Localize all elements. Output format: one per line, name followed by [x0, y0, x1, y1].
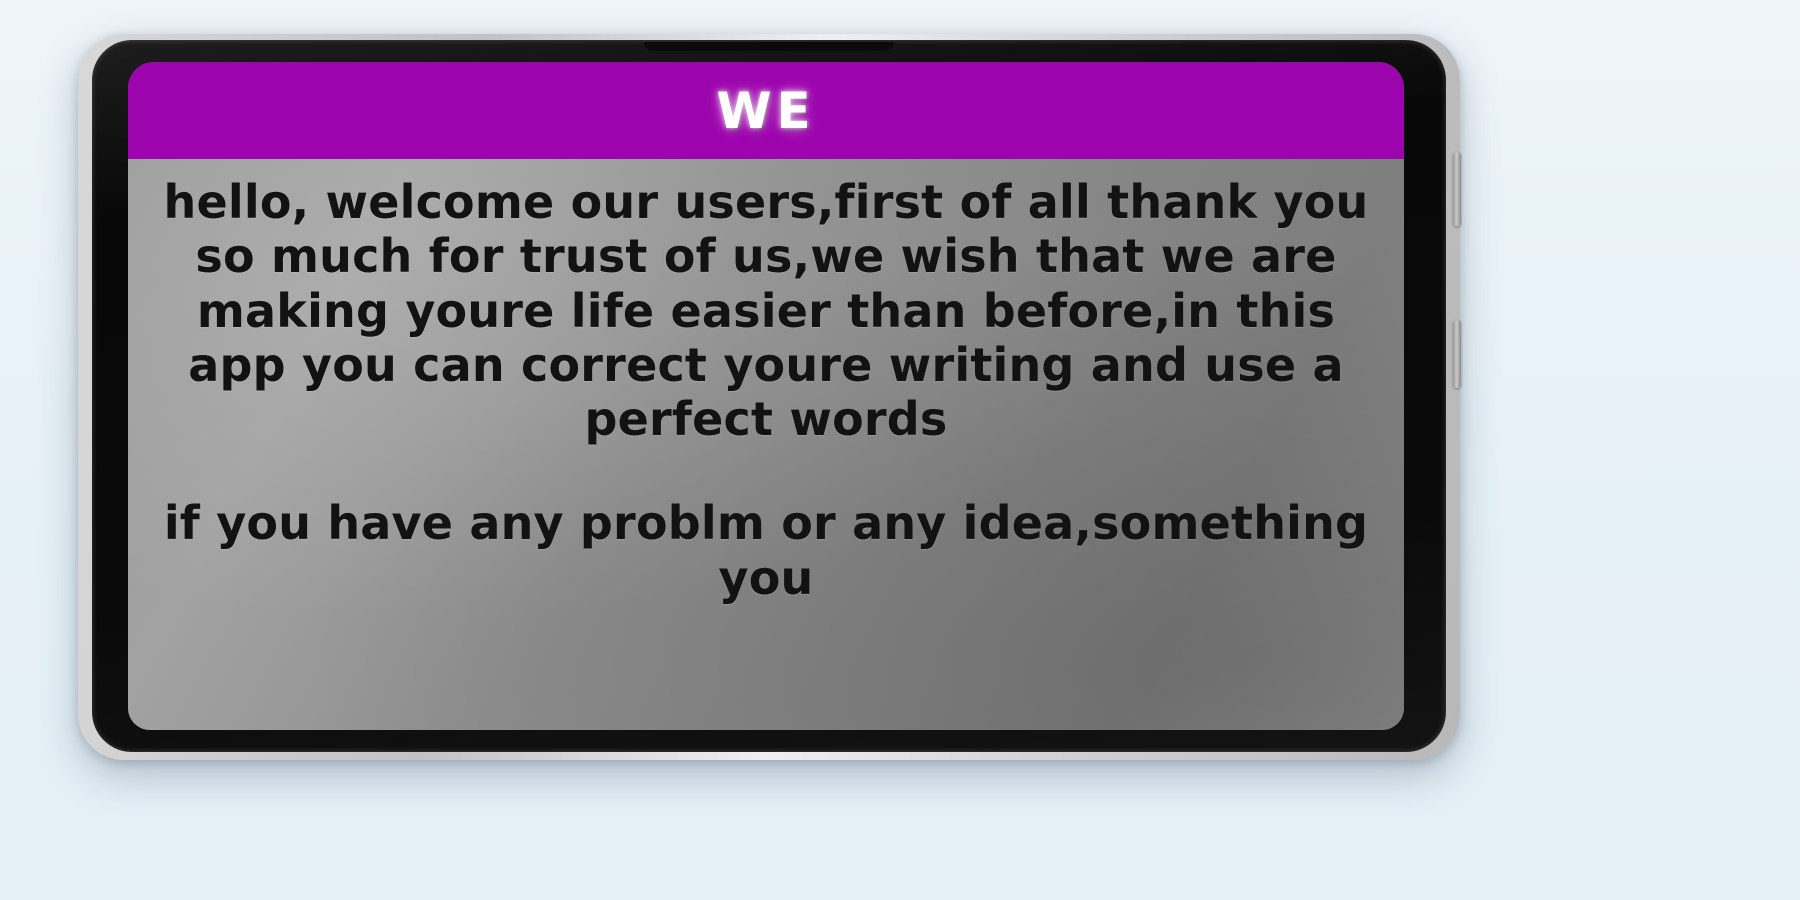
app-title: WE: [716, 86, 815, 136]
app-bar: WE: [128, 62, 1404, 159]
screen-content: hello, welcome our users,first of all th…: [128, 159, 1404, 730]
page-background: WE hello, welcome our users,first of all…: [0, 0, 1800, 900]
volume-button[interactable]: [1453, 152, 1461, 226]
welcome-paragraph: hello, welcome our users,first of all th…: [158, 159, 1374, 446]
feedback-paragraph: if you have any problm or any idea,somet…: [158, 446, 1374, 605]
device-frame: WE hello, welcome our users,first of all…: [78, 34, 1460, 760]
power-button[interactable]: [1453, 320, 1461, 388]
device-screen: WE hello, welcome our users,first of all…: [128, 62, 1404, 730]
device-bezel: WE hello, welcome our users,first of all…: [92, 40, 1446, 752]
speaker-notch: [644, 42, 894, 51]
